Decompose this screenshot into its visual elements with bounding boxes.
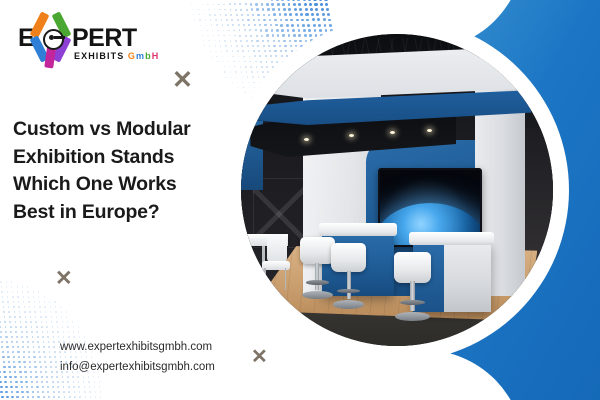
halftone-dot [30, 376, 32, 378]
exhibition-stand-photo [241, 34, 553, 346]
halftone-dot [5, 386, 8, 389]
halftone-dot [14, 311, 16, 313]
halftone-dot [323, 18, 326, 21]
halftone-dot [271, 3, 274, 6]
halftone-dot [48, 396, 50, 398]
halftone-dot [62, 326, 63, 327]
halftone-dot [226, 19, 228, 21]
halftone-dot [192, 9, 193, 10]
halftone-dot [232, 82, 233, 83]
halftone-dot [271, 29, 273, 31]
halftone-dot [16, 391, 19, 394]
halftone-dot [17, 346, 19, 348]
website-url[interactable]: www.expertexhibitsgmbh.com [60, 338, 215, 358]
halftone-dot [51, 316, 52, 317]
halftone-dot [26, 331, 28, 333]
halftone-dot [73, 331, 74, 332]
halftone-dot [68, 386, 70, 388]
halftone-dot [213, 35, 214, 36]
halftone-dot [54, 351, 56, 353]
halftone-dot [39, 306, 40, 307]
halftone-dot [11, 341, 13, 343]
chair-leg [264, 268, 266, 289]
halftone-dot [0, 391, 3, 394]
halftone-dot [68, 331, 69, 332]
halftone-dot [16, 396, 19, 399]
halftone-dot [243, 24, 245, 26]
halftone-dot [1, 341, 3, 343]
halftone-dot [244, 29, 246, 31]
halftone-dot [281, 0, 284, 1]
halftone-dot [24, 366, 26, 368]
halftone-dot [8, 311, 10, 313]
halftone-dot [261, 3, 263, 5]
halftone-dot [14, 376, 17, 379]
halftone-dot [100, 391, 101, 392]
halftone-dot [78, 386, 80, 388]
halftone-dot [2, 296, 3, 297]
halftone-dot [8, 366, 11, 369]
halftone-dot [300, 13, 303, 16]
halftone-dot [56, 321, 57, 322]
halftone-dot [231, 77, 232, 78]
halftone-dot [287, 29, 290, 32]
halftone-dot [79, 391, 81, 393]
halftone-dot [203, 9, 204, 10]
halftone-dot [35, 321, 37, 323]
halftone-dot [228, 30, 230, 32]
halftone-dot [288, 8, 291, 11]
halftone-dot [46, 376, 48, 378]
halftone-dot [19, 316, 21, 318]
halftone-dot [21, 336, 23, 338]
email-address[interactable]: info@expertexhibitsgmbh.com [60, 358, 215, 378]
halftone-dot [27, 396, 29, 398]
halftone-dot [319, 0, 322, 1]
halftone-dot [294, 8, 297, 11]
halftone-dot [94, 381, 95, 382]
halftone-dot [204, 14, 205, 15]
halftone-dot [53, 396, 55, 398]
halftone-dot [310, 8, 313, 11]
halftone-dot [268, 14, 271, 17]
logo-tagline-b: b [145, 51, 152, 61]
counter-top [319, 223, 396, 236]
halftone-dot [316, 13, 319, 16]
halftone-dot [232, 24, 234, 26]
halftone-dot [34, 366, 36, 368]
halftone-dot [318, 24, 321, 27]
halftone-dot [29, 311, 30, 312]
halftone-dot [34, 311, 35, 312]
halftone-dot [237, 50, 239, 52]
halftone-dot [23, 361, 25, 363]
halftone-dot [290, 19, 293, 22]
halftone-dot [267, 8, 270, 11]
stool-post [347, 271, 351, 300]
halftone-dot [17, 291, 18, 292]
halftone-dot [33, 346, 35, 348]
halftone-dot [207, 4, 208, 5]
halftone-dot [53, 391, 55, 393]
photo-ring [225, 18, 569, 362]
halftone-dot [211, 24, 212, 25]
halftone-dot [40, 371, 42, 373]
halftone-dot [269, 19, 271, 21]
halftone-dot [50, 311, 51, 312]
halftone-dot [325, 29, 328, 32]
halftone-dot [23, 356, 25, 358]
halftone-dot [281, 29, 284, 32]
halftone-dot [297, 24, 300, 27]
halftone-dot [38, 291, 39, 292]
halftone-dot [3, 306, 5, 308]
halftone-dot [11, 391, 14, 394]
halftone-dot [44, 356, 46, 358]
halftone-dot [304, 3, 307, 6]
halftone-dot [218, 66, 219, 67]
halftone-dot [73, 386, 75, 388]
halftone-dot [204, 45, 205, 46]
ceiling-spotlight [349, 134, 354, 137]
halftone-dot [33, 356, 35, 358]
halftone-dot [50, 306, 51, 307]
halftone-dot [193, 14, 194, 15]
halftone-dot [12, 346, 14, 348]
halftone-dot [247, 19, 249, 21]
halftone-dot [15, 331, 17, 333]
halftone-dot [239, 3, 241, 5]
halftone-dot [210, 19, 211, 20]
halftone-dot [94, 386, 95, 387]
halftone-dot [35, 376, 37, 378]
halftone-dot [29, 361, 31, 363]
halftone-dot [34, 301, 35, 302]
halftone-dot [295, 13, 298, 16]
halftone-dot [280, 24, 283, 27]
halftone-dot [33, 296, 34, 297]
halftone-dot [41, 326, 43, 328]
halftone-dot [230, 40, 232, 42]
halftone-dot [53, 341, 55, 343]
halftone-dot [46, 321, 47, 322]
halftone-dot [229, 3, 231, 5]
halftone-dot [16, 336, 18, 338]
halftone-dot [23, 351, 25, 353]
halftone-dot [51, 371, 53, 373]
halftone-dot [1, 286, 2, 287]
stool-base [333, 300, 365, 309]
halftone-dot [260, 29, 262, 31]
halftone-dot [27, 341, 29, 343]
halftone-dot [16, 341, 18, 343]
target-crosshair-icon [43, 29, 64, 50]
halftone-dot [39, 301, 40, 302]
halftone-dot [62, 321, 63, 322]
halftone-dot [22, 346, 24, 348]
halftone-dot [13, 301, 14, 302]
halftone-dot [1, 396, 4, 399]
halftone-dot [45, 316, 46, 317]
halftone-dot [191, 4, 192, 5]
halftone-dot [322, 13, 325, 16]
halftone-dot [222, 24, 224, 26]
halftone-dot [298, 3, 301, 6]
halftone-dot [215, 19, 217, 21]
halftone-dot [68, 391, 70, 393]
halftone-dot [46, 326, 48, 328]
halftone-dot [2, 301, 3, 302]
halftone-dot [42, 391, 44, 393]
halftone-dot [23, 301, 24, 302]
halftone-dot [6, 281, 7, 282]
halftone-dot [28, 301, 29, 302]
halftone-dot [229, 66, 230, 67]
halftone-dot [51, 376, 53, 378]
halftone-dot [84, 391, 85, 392]
halftone-dot [202, 35, 203, 36]
halftone-dot [257, 14, 259, 16]
halftone-dot [49, 356, 51, 358]
halftone-dot [24, 311, 26, 313]
halftone-dot [5, 336, 7, 338]
halftone-dot [249, 29, 251, 31]
halftone-dot [45, 311, 46, 312]
halftone-dot [219, 9, 221, 11]
halftone-dot [247, 14, 249, 16]
logo-tagline-g: G [128, 51, 136, 61]
halftone-dot [66, 316, 67, 317]
halftone-dot [225, 14, 227, 16]
halftone-dot [95, 396, 96, 397]
halftone-dot [53, 336, 55, 338]
halftone-dot [27, 291, 28, 292]
stool-footring [400, 300, 425, 305]
halftone-dot [224, 71, 225, 72]
halftone-dot [238, 24, 240, 26]
halftone-dot [72, 321, 73, 322]
halftone-dot [73, 326, 74, 327]
halftone-dot [66, 311, 67, 312]
halftone-dot [241, 14, 243, 16]
halftone-dot [288, 3, 291, 6]
halftone-dot [259, 24, 261, 26]
halftone-dot [276, 29, 278, 31]
halftone-dot [255, 3, 257, 5]
halftone-dot [64, 396, 66, 398]
halftone-dot [242, 19, 244, 21]
halftone-dot [21, 386, 24, 389]
halftone-dot [56, 316, 57, 317]
halftone-dot [63, 331, 64, 332]
halftone-dot [226, 50, 227, 51]
halftone-dot [15, 386, 18, 389]
stool-footring [337, 289, 360, 294]
halftone-dot [61, 311, 62, 312]
halftone-dot [63, 391, 65, 393]
halftone-dot [32, 391, 34, 393]
halftone-dot [47, 391, 49, 393]
halftone-dot [224, 9, 226, 11]
halftone-dot [79, 396, 81, 398]
stool-seat [300, 237, 334, 264]
halftone-dot [26, 386, 28, 388]
halftone-dot [236, 45, 238, 47]
halftone-dot [252, 14, 254, 16]
halftone-dot [3, 311, 5, 313]
halftone-dot [31, 386, 33, 388]
logo-tagline-m: m [136, 51, 145, 61]
halftone-dot [201, 30, 202, 31]
decorative-x-icon-1: ✕ [172, 68, 193, 93]
halftone-dot [271, 0, 274, 1]
halftone-dot [263, 19, 265, 21]
halftone-dot [248, 24, 250, 26]
halftone-dot [8, 306, 10, 308]
halftone-dot [36, 381, 38, 383]
stool-base [302, 291, 334, 299]
halftone-dot [31, 326, 33, 328]
halftone-dot [197, 9, 198, 10]
halftone-dot [320, 3, 323, 6]
halftone-dot [30, 321, 32, 323]
halftone-dot [329, 24, 332, 27]
stand-scene [241, 34, 553, 346]
halftone-dot [29, 306, 30, 307]
halftone-dot [11, 396, 14, 399]
halftone-dot [0, 281, 1, 282]
halftone-dot [238, 87, 239, 88]
halftone-dot [36, 386, 38, 388]
stool-post [315, 263, 319, 290]
halftone-dot [315, 8, 318, 11]
halftone-dot [230, 71, 231, 72]
halftone-dot [88, 381, 89, 382]
halftone-dot [227, 56, 228, 57]
counter-top [409, 232, 493, 245]
halftone-dot [28, 296, 29, 297]
halftone-dot [13, 361, 15, 363]
halftone-dot [38, 346, 40, 348]
headline-line-3: Which One Works [13, 171, 218, 199]
halftone-dot [67, 321, 68, 322]
halftone-dot [1, 291, 2, 292]
halftone-dot [203, 40, 204, 41]
halftone-dot [206, 30, 207, 31]
halftone-dot [207, 35, 208, 36]
halftone-dot [314, 29, 317, 32]
chair-leg [285, 268, 287, 289]
halftone-dot [4, 316, 6, 318]
halftone-dot [231, 45, 233, 47]
logo-tagline-exhibits: EXHIBITS [74, 51, 124, 61]
halftone-dot [206, 25, 207, 26]
halftone-dot [234, 66, 235, 67]
halftone-dot [215, 51, 216, 52]
halftone-dot [31, 381, 33, 383]
halftone-dot [291, 24, 294, 27]
halftone-dot [263, 14, 265, 16]
halftone-dot [314, 3, 317, 6]
brand-logo[interactable]: E PERT EXHIBITS GmbH [18, 12, 158, 64]
halftone-dot [220, 14, 222, 16]
halftone-dot [220, 45, 221, 46]
halftone-dot [50, 361, 52, 363]
halftone-dot [225, 45, 226, 46]
halftone-dot [237, 82, 238, 83]
halftone-dot [2, 356, 4, 358]
halftone-dot [33, 291, 34, 292]
headline: Custom vs Modular Exhibition Stands Whic… [13, 116, 218, 227]
halftone-dot [89, 386, 90, 387]
halftone-dot [11, 336, 13, 338]
halftone-dot [307, 24, 310, 27]
halftone-dot [42, 336, 44, 338]
halftone-dot [39, 356, 41, 358]
halftone-dot [324, 24, 327, 27]
halftone-dot [67, 326, 68, 327]
halftone-dot [42, 386, 44, 388]
halftone-dot [197, 4, 198, 5]
halftone-dot [312, 18, 315, 21]
halftone-dot [12, 296, 13, 297]
halftone-dot [27, 346, 29, 348]
halftone-dot [212, 30, 213, 31]
halftone-dot [31, 331, 33, 333]
halftone-dot [58, 336, 59, 337]
halftone-dot [7, 356, 9, 358]
halftone-dot [57, 381, 59, 383]
halftone-dot [194, 19, 195, 20]
halftone-dot [219, 40, 220, 41]
halftone-dot [266, 3, 269, 6]
halftone-dot [284, 13, 287, 16]
halftone-dot [237, 19, 239, 21]
halftone-dot [63, 386, 65, 388]
halftone-dot [299, 8, 302, 11]
halftone-dot [214, 9, 216, 11]
halftone-dot [5, 391, 8, 394]
halftone-dot [9, 321, 11, 323]
halftone-dot [210, 51, 211, 52]
halftone-dot [253, 19, 255, 21]
halftone-dot [208, 40, 209, 41]
halftone-dot [216, 56, 217, 57]
halftone-dot [89, 391, 90, 392]
halftone-dot [58, 391, 60, 393]
halftone-dot [29, 366, 31, 368]
logo-x-mark-icon [30, 12, 76, 62]
halftone-dot [3, 366, 6, 369]
halftone-dot [84, 386, 85, 387]
halftone-dot [223, 30, 225, 32]
halftone-dot [90, 396, 91, 397]
halftone-dot [216, 24, 218, 26]
halftone-dot [325, 3, 328, 6]
halftone-dot [235, 71, 236, 72]
halftone-dot [10, 386, 13, 389]
halftone-dot [32, 336, 34, 338]
halftone-dot [286, 24, 289, 27]
halftone-dot [285, 19, 288, 22]
halftone-dot [49, 301, 50, 302]
halftone-dot [224, 66, 225, 67]
halftone-dot [245, 3, 247, 5]
halftone-dot [43, 396, 45, 398]
bar-stool [331, 243, 365, 309]
banner-canvas: E PERT EXHIBITS GmbH Custom vs Modular E… [0, 0, 600, 400]
logo-tagline-h: H [152, 51, 160, 61]
